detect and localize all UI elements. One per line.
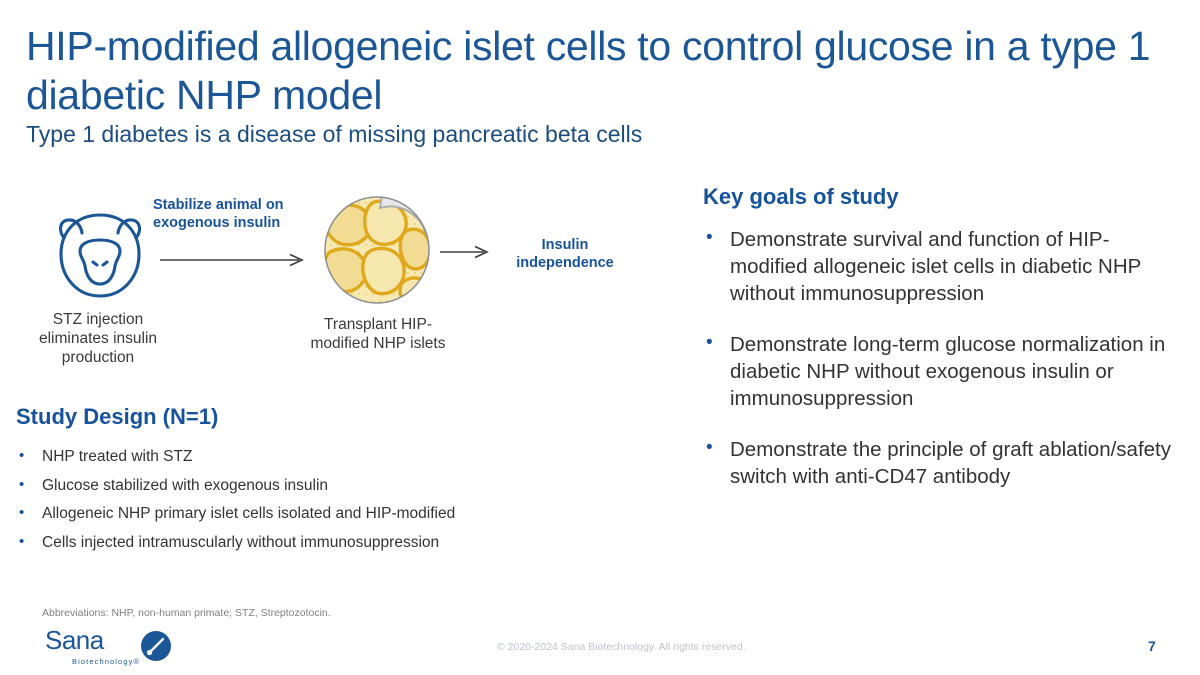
monkey-head-icon xyxy=(44,208,156,304)
monkey-caption: STZ injection eliminates insulin product… xyxy=(18,310,178,367)
arrow-right-long-icon xyxy=(160,253,308,267)
outcome-label: Insulin independence xyxy=(495,236,635,272)
key-goals-list: Demonstrate survival and function of HIP… xyxy=(703,226,1173,514)
list-item: Demonstrate long-term glucose normalizat… xyxy=(703,331,1173,412)
study-flow-diagram: STZ injection eliminates insulin product… xyxy=(0,170,690,400)
study-design-list: NHP treated with STZ Glucose stabilized … xyxy=(16,446,666,560)
sana-logo: Sana Biotechnology® xyxy=(45,625,175,669)
islet-caption: Transplant HIP-modified NHP islets xyxy=(302,315,454,353)
list-item: Demonstrate survival and function of HIP… xyxy=(703,226,1173,307)
list-item: Allogeneic NHP primary islet cells isola… xyxy=(16,503,666,524)
key-goals-heading: Key goals of study xyxy=(703,184,899,210)
study-design-heading: Study Design (N=1) xyxy=(16,404,218,430)
list-item: Glucose stabilized with exogenous insuli… xyxy=(16,475,666,496)
list-item: NHP treated with STZ xyxy=(16,446,666,467)
page-title: HIP-modified allogeneic islet cells to c… xyxy=(26,22,1156,120)
list-item: Cells injected intramuscularly without i… xyxy=(16,532,666,553)
islet-cluster-icon xyxy=(322,194,432,306)
abbreviations-note: Abbreviations: NHP, non-human primate; S… xyxy=(42,607,331,619)
list-item: Demonstrate the principle of graft ablat… xyxy=(703,436,1173,490)
svg-text:Sana: Sana xyxy=(45,625,105,655)
svg-text:Biotechnology®: Biotechnology® xyxy=(72,657,140,666)
slide-root: HIP-modified allogeneic islet cells to c… xyxy=(0,0,1200,675)
arrow-right-short-icon xyxy=(440,245,492,259)
copyright-notice: © 2020-2024 Sana Biotechnology. All righ… xyxy=(497,641,746,653)
page-number: 7 xyxy=(1148,638,1156,654)
page-subtitle: Type 1 diabetes is a disease of missing … xyxy=(26,120,1026,148)
arrow1-label: Stabilize animal on exogenous insulin xyxy=(153,196,325,232)
